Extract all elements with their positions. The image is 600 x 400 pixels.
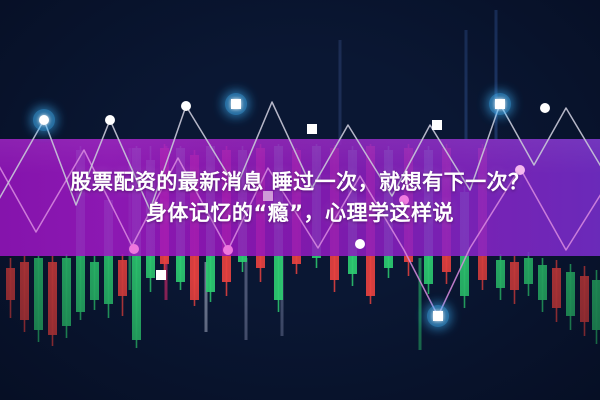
marker-square bbox=[495, 99, 505, 109]
data-point-marker-group bbox=[33, 93, 550, 327]
zigzag-polyline bbox=[0, 150, 600, 316]
zigzag-polyline-group bbox=[0, 102, 600, 316]
marker-square bbox=[263, 191, 273, 201]
chart-polyline-layer bbox=[0, 0, 600, 400]
marker-square bbox=[433, 311, 443, 321]
marker-circle bbox=[129, 244, 139, 254]
marker-circle bbox=[39, 115, 49, 125]
marker-square bbox=[432, 120, 442, 130]
marker-circle bbox=[399, 195, 409, 205]
marker-square bbox=[231, 99, 241, 109]
zigzag-polyline bbox=[0, 102, 600, 215]
marker-square bbox=[307, 124, 317, 134]
banner-image: 股票配资的最新消息 睡过一次，就想有下一次？ 身体记忆的“瘾”，心理学这样说 bbox=[0, 0, 600, 400]
marker-circle bbox=[515, 165, 525, 175]
marker-circle bbox=[223, 245, 233, 255]
marker-circle bbox=[181, 101, 191, 111]
marker-square bbox=[156, 270, 166, 280]
marker-circle bbox=[105, 115, 115, 125]
marker-circle bbox=[355, 239, 365, 249]
marker-circle bbox=[540, 103, 550, 113]
